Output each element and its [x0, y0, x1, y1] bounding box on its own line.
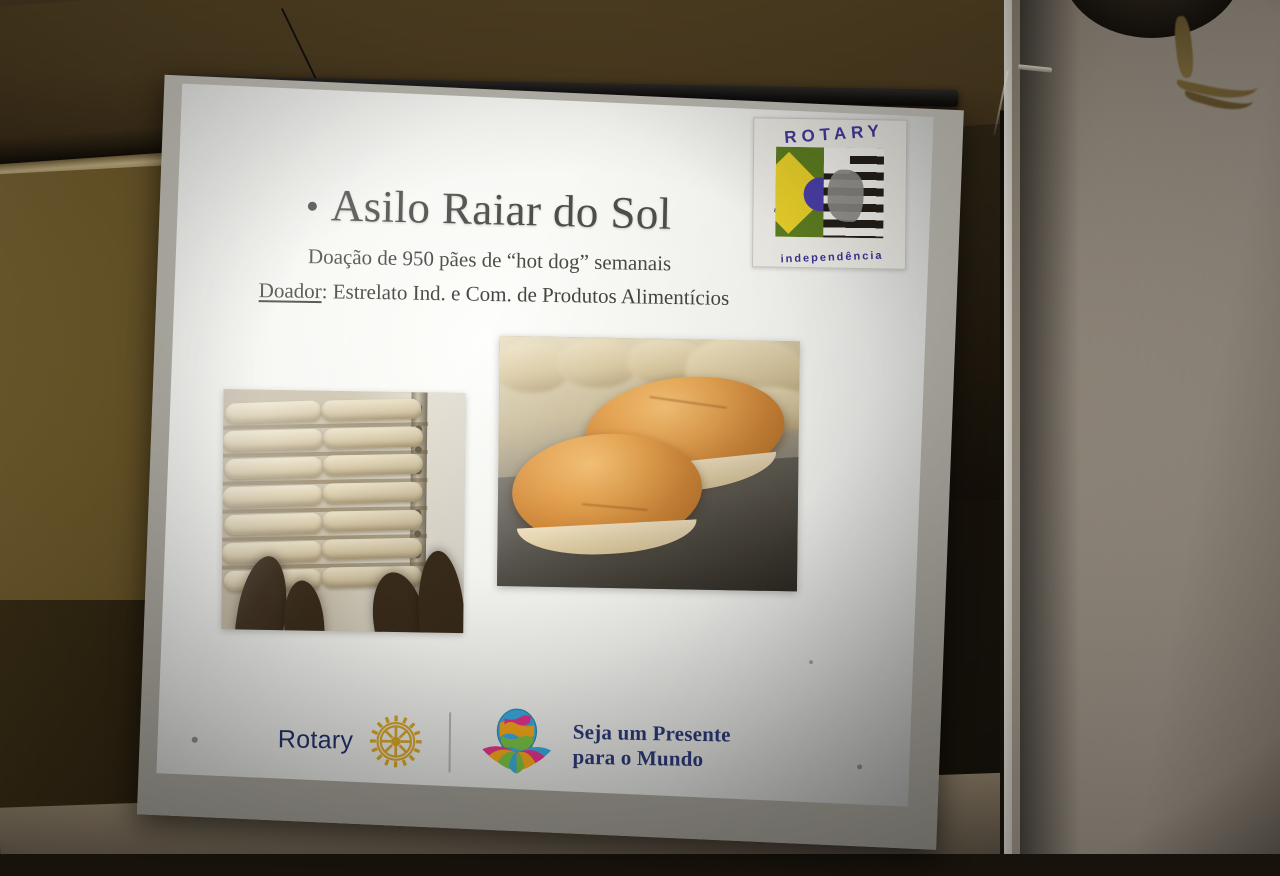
photo-bread-rolls-sheen [221, 389, 465, 633]
rotary-wordmark: Rotary [278, 725, 354, 755]
donor-label: Doador [259, 278, 322, 303]
logo-independencia-text: independência [769, 249, 895, 266]
slide-title: Asilo Raiar do Sol [330, 179, 672, 240]
slide-footer: Rotary [277, 693, 798, 795]
bullet-icon [308, 202, 317, 211]
saopaulo-state-map-icon [827, 169, 863, 222]
screen-speck-2 [809, 660, 813, 664]
rotary-gear-icon [369, 714, 424, 769]
photo-buns-sheen [497, 336, 800, 592]
ri-theme-text: Seja um Presente para o Mundo [572, 720, 730, 772]
theme-line-2: para o Mundo [572, 745, 703, 771]
screen-speck-3 [857, 764, 862, 769]
logo-rotary-text: ROTARY [784, 121, 885, 148]
photo-hot-dog-buns [497, 336, 800, 592]
right-wall-shadow [1020, 0, 1080, 854]
presentation-slide: Asilo Raiar do Sol Doação de 950 pães de… [156, 84, 933, 807]
theme-line-1: Seja um Presente [573, 720, 731, 747]
photo-bread-rolls [221, 389, 465, 633]
brazil-saopaulo-flag-graphic [775, 147, 884, 239]
footer-divider [449, 712, 451, 772]
donor-name: : Estrelato Ind. e Com. de Produtos Alim… [322, 279, 730, 310]
slide-subtitle-donor: Doador: Estrelato Ind. e Com. de Produto… [259, 278, 899, 314]
screen-speck-1 [192, 737, 198, 743]
rotary-sao-paulo-independencia-logo: ROTARY SÃO PAULO independência [752, 117, 907, 270]
ri-theme-logo-icon [476, 707, 557, 780]
projection-screen: Asilo Raiar do Sol Doação de 950 pães de… [118, 38, 1007, 876]
